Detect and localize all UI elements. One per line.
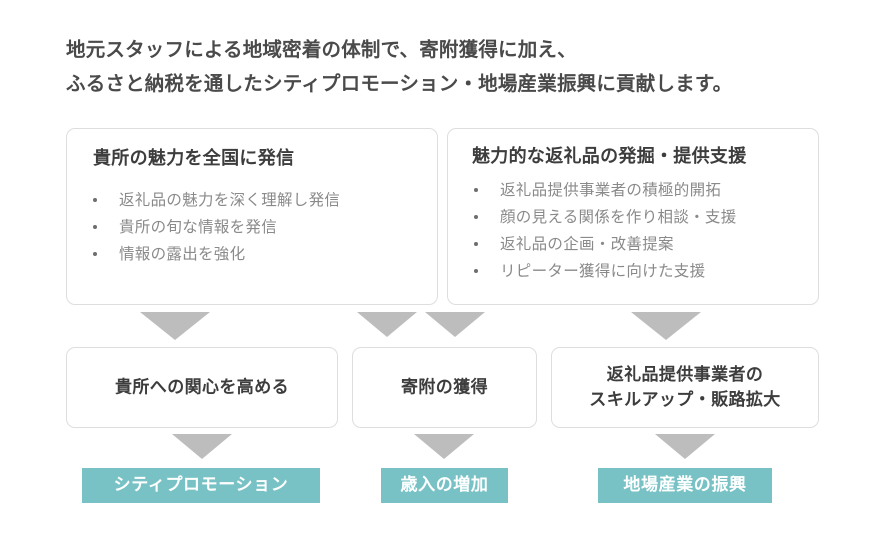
list-item: 情報の露出を強化	[89, 241, 425, 268]
page-headline: 地元スタッフによる地域密着の体制で、寄附獲得に加え、 ふるさと納税を通したシティ…	[66, 33, 856, 101]
outcome-card-interest: 貴所への関心を高める	[66, 347, 338, 428]
down-triangle-arrow-icon	[357, 312, 417, 337]
down-triangle-arrow-icon	[172, 434, 232, 459]
bullet-dot-icon	[474, 269, 478, 273]
down-triangle-arrow-icon	[631, 312, 701, 340]
list-item: 顔の見える関係を作り相談・支援	[470, 204, 806, 231]
list-item-label: 返礼品提供事業者の積極的開拓	[500, 181, 721, 199]
list-item: 返礼品の魅力を深く理解し発信	[89, 187, 425, 214]
outcome-card-label: 返礼品提供事業者の スキルアップ・販路拡大	[552, 363, 818, 413]
bullet-dot-icon	[474, 188, 478, 192]
activity-card-title: 魅力的な返礼品の発掘・提供支援	[472, 142, 747, 168]
list-item: 返礼品の企画・改善提案	[470, 231, 806, 258]
list-item: 貴所の旬な情報を発信	[89, 214, 425, 241]
bullet-dot-icon	[474, 215, 478, 219]
headline-line-2: ふるさと納税を通したシティプロモーション・地場産業振興に貢献します。	[66, 67, 856, 101]
activity-bullet-list: 返礼品の魅力を深く理解し発信 貴所の旬な情報を発信 情報の露出を強化	[89, 187, 425, 268]
result-banner-city-promotion: シティプロモーション	[82, 468, 320, 503]
outcome-card-supplier-growth: 返礼品提供事業者の スキルアップ・販路拡大	[551, 347, 819, 428]
list-item-label: 顔の見える関係を作り相談・支援	[500, 208, 737, 226]
down-triangle-arrow-icon	[140, 312, 210, 340]
list-item-label: 貴所の旬な情報を発信	[119, 218, 277, 236]
bullet-dot-icon	[93, 198, 97, 202]
list-item-label: 情報の露出を強化	[119, 245, 245, 263]
list-item-label: リピーター獲得に向けた支援	[500, 262, 705, 280]
bullet-dot-icon	[474, 242, 478, 246]
activity-card-gift-support: 魅力的な返礼品の発掘・提供支援 返礼品提供事業者の積極的開拓 顔の見える関係を作…	[447, 128, 819, 305]
activity-card-title: 貴所の魅力を全国に発信	[93, 144, 294, 170]
list-item: 返礼品提供事業者の積極的開拓	[470, 177, 806, 204]
outcome-card-donations: 寄附の獲得	[352, 347, 537, 428]
down-triangle-arrow-icon	[655, 434, 715, 459]
down-triangle-arrow-icon	[414, 434, 474, 459]
down-triangle-arrow-icon	[425, 312, 485, 337]
list-item-label: 返礼品の企画・改善提案	[500, 235, 674, 253]
outcome-card-label: 貴所への関心を高める	[67, 375, 337, 400]
result-banner-local-industry: 地場産業の振興	[598, 468, 772, 503]
activity-card-promotion: 貴所の魅力を全国に発信 返礼品の魅力を深く理解し発信 貴所の旬な情報を発信 情報…	[66, 128, 438, 305]
bullet-dot-icon	[93, 252, 97, 256]
outcome-card-label: 寄附の獲得	[353, 375, 536, 400]
headline-line-1: 地元スタッフによる地域密着の体制で、寄附獲得に加え、	[66, 33, 856, 67]
activity-bullet-list: 返礼品提供事業者の積極的開拓 顔の見える関係を作り相談・支援 返礼品の企画・改善…	[470, 177, 806, 285]
bullet-dot-icon	[93, 225, 97, 229]
result-banner-revenue-increase: 歳入の増加	[381, 468, 508, 503]
diagram-canvas: 地元スタッフによる地域密着の体制で、寄附獲得に加え、 ふるさと納税を通したシティ…	[0, 0, 888, 559]
list-item: リピーター獲得に向けた支援	[470, 258, 806, 285]
list-item-label: 返礼品の魅力を深く理解し発信	[119, 191, 340, 209]
